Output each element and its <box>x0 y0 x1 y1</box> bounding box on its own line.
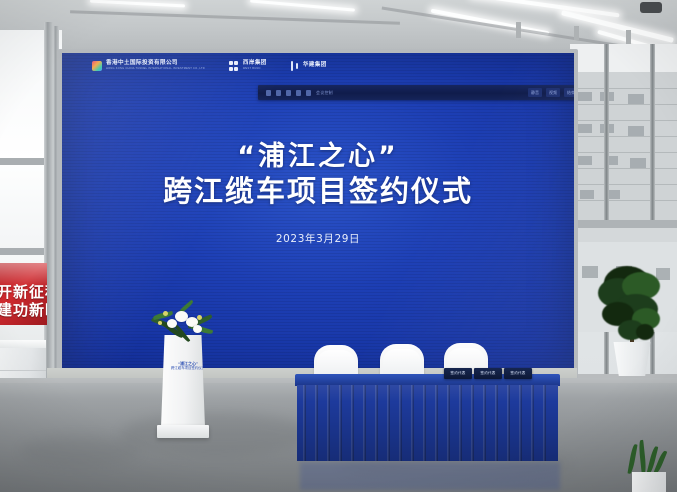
window-frame-post <box>44 22 53 382</box>
ceiling-projector <box>640 2 662 13</box>
window-blind <box>570 44 677 72</box>
led-display-screen: 香港中土国际投资有限公司 HONG KONG CHINA TUNNEL INTE… <box>62 53 574 383</box>
podium-text-block: “浦江之心” 跨江缆车项目签约仪式 <box>170 361 206 370</box>
ceiling-light-strip <box>90 0 185 7</box>
signing-table-skirt <box>297 385 558 461</box>
placard-label: 签约代表 <box>450 371 465 376</box>
name-placard: 签约代表 <box>474 368 502 379</box>
red-banner: 开新征程 建功新时 <box>0 263 47 325</box>
foreground-pot <box>632 472 666 492</box>
ceiling-drop-rod <box>574 26 579 40</box>
venue-photo: 香港中土国际投资有限公司 HONG KONG CHINA TUNNEL INTE… <box>0 0 677 492</box>
window-frame-post <box>53 26 59 382</box>
ceiling-light-strip <box>250 0 355 12</box>
ceiling-drop-rod <box>626 30 631 44</box>
name-placard: 签约代表 <box>444 368 472 379</box>
podium-body: “浦江之心” 跨江缆车项目签约仪式 <box>161 335 205 427</box>
plant-pot <box>610 342 654 376</box>
window-sill <box>570 228 677 242</box>
placard-label: 签约代表 <box>480 371 495 376</box>
podium-base <box>157 425 209 438</box>
screen-glare <box>62 53 574 383</box>
podium-line-2: 跨江缆车项目签约仪式 <box>170 366 206 370</box>
banner-glare <box>0 263 47 325</box>
foreground-flower-arrangement <box>618 440 677 492</box>
ceiling-beam <box>70 10 400 25</box>
name-placard: 签约代表 <box>504 368 532 379</box>
flower-arrangement <box>149 299 221 343</box>
potted-plant <box>592 262 674 382</box>
window-mullion <box>570 220 677 228</box>
placard-label: 签约代表 <box>510 371 525 376</box>
ceiling-drop-rod <box>516 22 521 38</box>
podium: “浦江之心” 跨江缆车项目签约仪式 <box>157 335 209 439</box>
cabinet-lid <box>0 340 46 348</box>
ceiling-light-strip <box>470 0 619 17</box>
